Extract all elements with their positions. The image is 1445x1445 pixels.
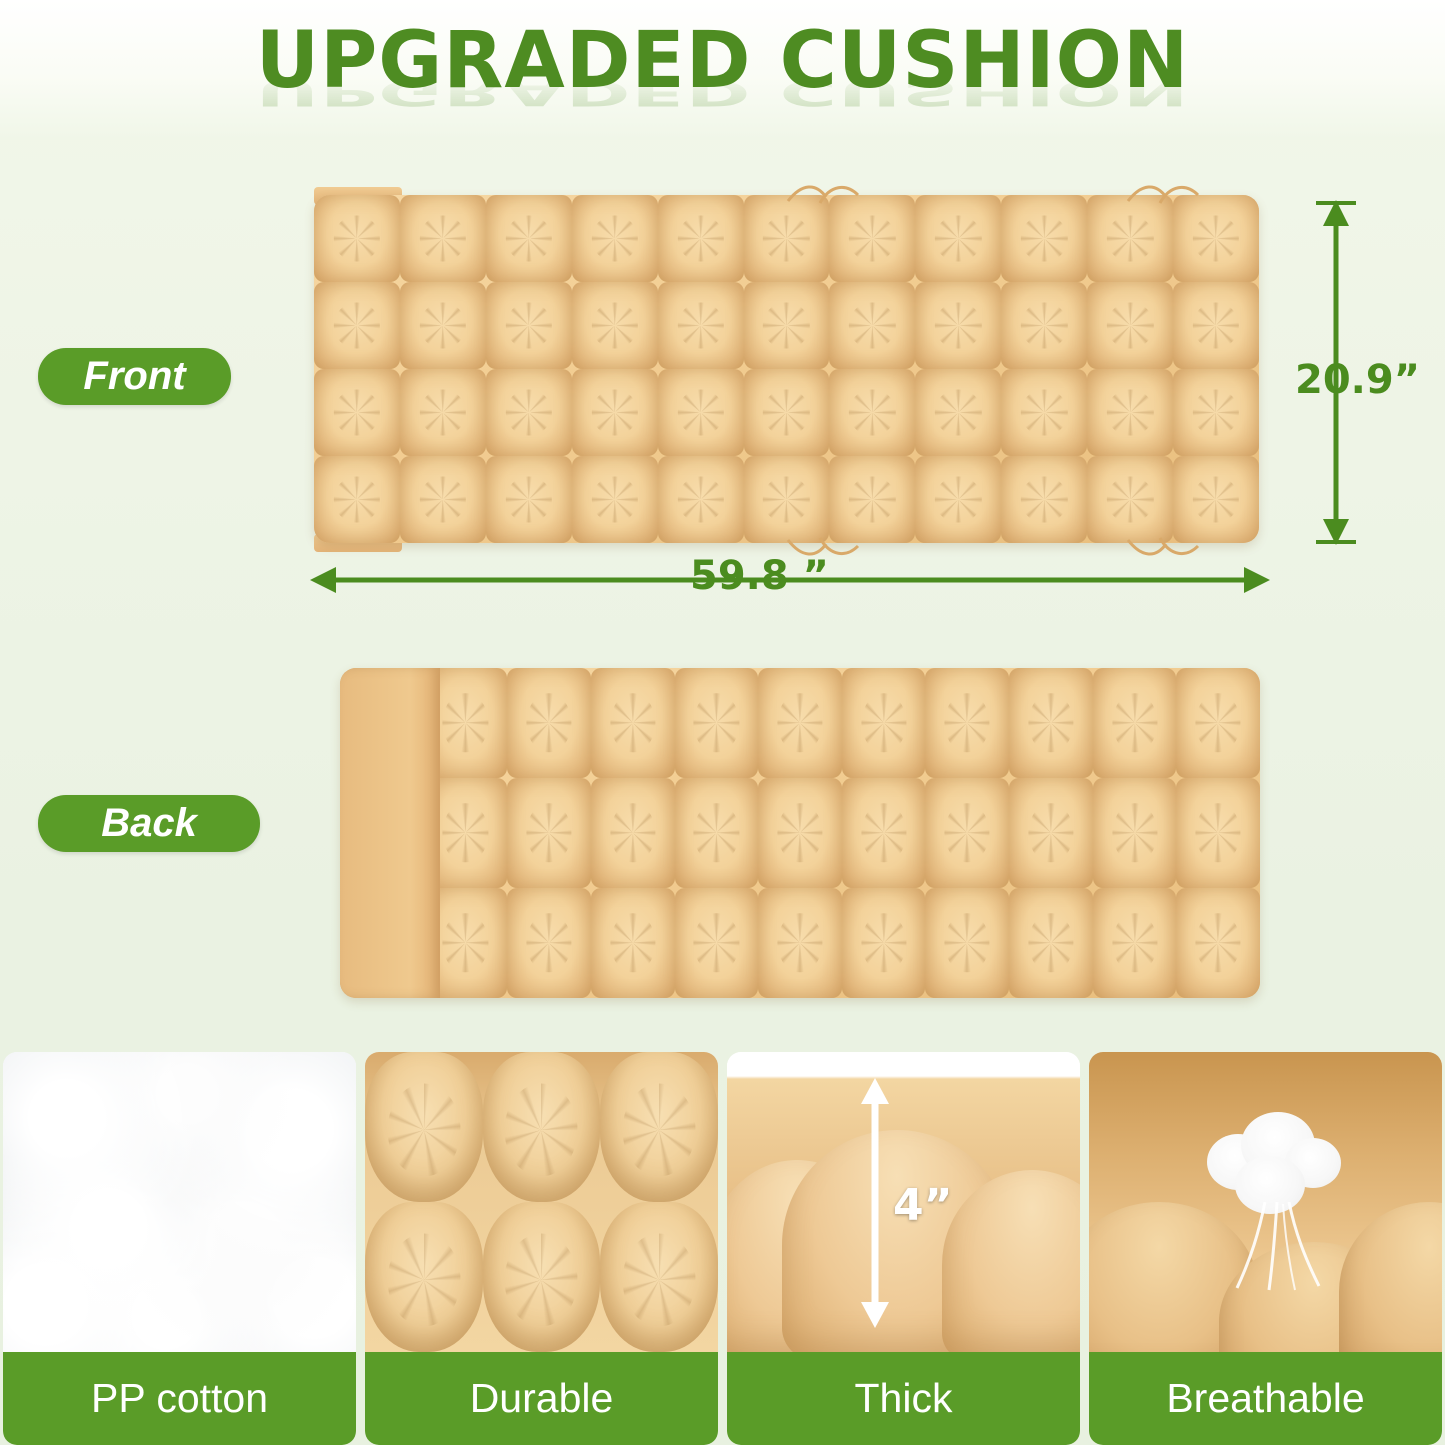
feature-caption-durable: Durable [365,1352,718,1445]
label-back: Back [38,795,260,852]
product-infographic: UPGRADED CUSHION UPGRADED CUSHION Front … [0,0,1445,1445]
quilt-grid-back [340,668,1260,998]
feature-caption-breathable: Breathable [1089,1352,1442,1445]
label-front: Front [38,348,231,405]
quilt-grid-front [314,195,1259,543]
label-back-text: Back [101,801,197,846]
back-flap-panel [340,668,440,998]
feature-card-pp-cotton: PP cotton [3,1052,356,1445]
feature-card-breathable: Breathable [1089,1052,1442,1445]
cushion-front-view [314,195,1259,543]
feature-caption-thick: Thick [727,1352,1080,1445]
width-dimension-label: 59.8 ” [690,553,829,599]
feature-caption-pp-cotton: PP cotton [3,1352,356,1445]
feature-image-pp-cotton [3,1052,356,1352]
thickness-label: 4” [893,1180,953,1231]
feature-image-breathable [1089,1052,1442,1352]
fiber-strands-icon [1215,1202,1355,1292]
feature-image-thick: 4” [727,1052,1080,1352]
feature-card-durable: Durable [365,1052,718,1445]
feature-image-durable [365,1052,718,1352]
thickness-dimension-arrow [857,1078,893,1328]
feature-strip: PP cotton Durable [0,1052,1445,1445]
height-dimension-label: 20.9” [1295,357,1420,403]
feature-card-thick: 4” Thick [727,1052,1080,1445]
label-front-text: Front [83,354,185,399]
page-title: UPGRADED CUSHION [0,16,1445,106]
cushion-back-view [340,668,1260,998]
